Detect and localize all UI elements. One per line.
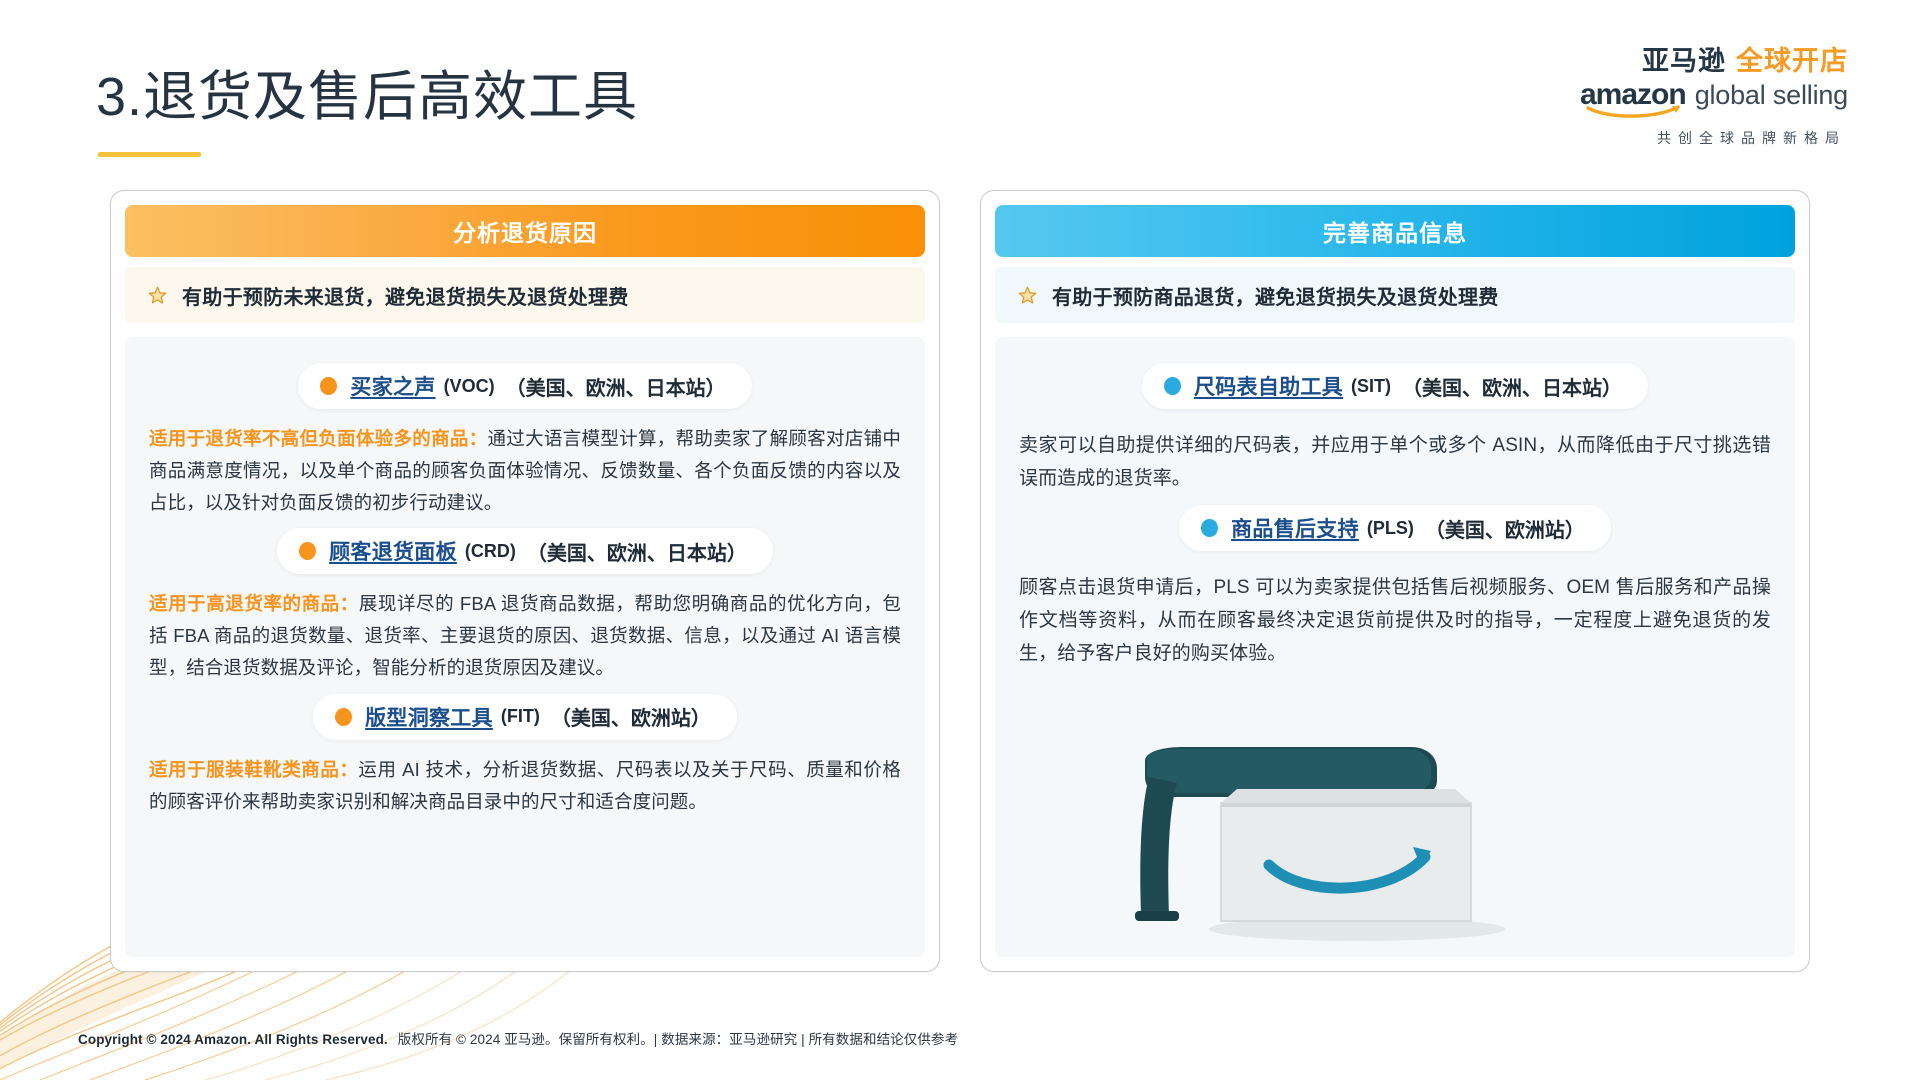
amazon-global-selling-logo: 亚马逊 全球开店 amazon global selling 共创全球品牌新格局 — [1528, 48, 1848, 148]
page-title: 3.退货及售后高效工具 — [96, 52, 638, 131]
tool-desc-pls: 顾客点击退货申请后，PLS 可以为卖家提供包括售后视频服务、OEM 售后服务和产… — [1019, 571, 1771, 670]
tool-regions-voc: （美国、欧洲、日本站） — [506, 372, 726, 401]
star-icon — [147, 285, 168, 306]
card-analyze-return-reasons: 分析退货原因 有助于预防未来退货，避免退货损失及退货处理费 买家之声 (VOC)… — [110, 190, 940, 972]
tool-pill-fit[interactable]: 版型洞察工具 (FIT) （美国、欧洲站） — [313, 694, 737, 740]
card-body-analyze: 买家之声 (VOC) （美国、欧洲、日本站） 适用于退货率不高但负面体验多的商品… — [125, 337, 925, 957]
card-body-improve: 尺码表自助工具 (SIT) （美国、欧洲、日本站） 卖家可以自助提供详细的尺码表… — [995, 337, 1795, 957]
logo-amazon-wordmark: amazon — [1580, 80, 1686, 110]
card-header-improve: 完善商品信息 — [995, 205, 1795, 257]
tool-abbr-voc: (VOC) — [444, 376, 495, 397]
footer-copyright-cn: 版权所有 © 2024 亚马逊。保留所有权利。| 数据来源：亚马逊研究 | 所有… — [398, 1028, 958, 1048]
bullet-dot-icon — [320, 377, 337, 395]
card-subtitle-analyze: 有助于预防未来退货，避免退货损失及退货处理费 — [125, 267, 925, 323]
amazon-smile-icon — [1586, 105, 1682, 119]
tool-pill-voc[interactable]: 买家之声 (VOC) （美国、欧洲、日本站） — [298, 363, 751, 409]
tool-link-pls[interactable]: 商品售后支持 — [1231, 513, 1359, 543]
tool-pill-pls[interactable]: 商品售后支持 (PLS) （美国、欧洲站） — [1179, 505, 1611, 551]
footer-copyright-en: Copyright © 2024 Amazon. All Rights Rese… — [78, 1032, 388, 1047]
logo-global-selling-cn: 全球开店 — [1736, 48, 1848, 75]
slide-canvas: 3.退货及售后高效工具 亚马逊 全球开店 amazon global selli… — [0, 0, 1920, 1080]
tool-abbr-sit: (SIT) — [1351, 376, 1391, 397]
tool-abbr-pls: (PLS) — [1367, 518, 1414, 539]
tool-regions-pls: （美国、欧洲站） — [1425, 514, 1585, 543]
logo-english-row: amazon global selling — [1528, 80, 1848, 110]
tool-lead-crd: 适用于高退货率的商品： — [149, 593, 359, 614]
logo-tagline: 共创全球品牌新格局 — [1528, 128, 1848, 148]
footer: Copyright © 2024 Amazon. All Rights Rese… — [78, 1028, 958, 1048]
tool-abbr-crd: (CRD) — [465, 541, 516, 562]
tool-regions-crd: （美国、欧洲、日本站） — [527, 537, 747, 566]
tool-desc-sit: 卖家可以自助提供详细的尺码表，并应用于单个或多个 ASIN，从而降低由于尺寸挑选… — [1019, 429, 1771, 495]
tool-desc-voc: 适用于退货率不高但负面体验多的商品：通过大语言模型计算，帮助卖家了解顾客对店铺中… — [149, 423, 901, 518]
tool-desc-crd: 适用于高退货率的商品：展现详尽的 FBA 退货商品数据，帮助您明确商品的优化方向… — [149, 588, 901, 683]
bullet-dot-icon — [1201, 519, 1218, 537]
tool-lead-fit: 适用于服装鞋靴类商品： — [149, 759, 358, 780]
tool-pill-sit[interactable]: 尺码表自助工具 (SIT) （美国、欧洲、日本站） — [1142, 363, 1648, 409]
card-header-analyze: 分析退货原因 — [125, 205, 925, 257]
bullet-dot-icon — [1164, 377, 1181, 395]
bullet-dot-icon — [299, 542, 316, 560]
amazon-parcel-illustration — [1125, 747, 1545, 947]
tool-pill-crd[interactable]: 顾客退货面板 (CRD) （美国、欧洲、日本站） — [277, 528, 773, 574]
tool-regions-fit: （美国、欧洲站） — [551, 702, 711, 731]
card-improve-product-info: 完善商品信息 有助于预防商品退货，避免退货损失及退货处理费 尺码表自助工具 (S… — [980, 190, 1810, 972]
bullet-dot-icon — [335, 708, 352, 726]
tool-regions-sit: （美国、欧洲、日本站） — [1402, 372, 1622, 401]
card-subtitle-text: 有助于预防商品退货，避免退货损失及退货处理费 — [1052, 281, 1499, 310]
tool-link-fit[interactable]: 版型洞察工具 — [365, 702, 493, 732]
title-underline-rule — [98, 152, 201, 157]
logo-global-selling-text: global selling — [1695, 82, 1848, 109]
tool-abbr-fit: (FIT) — [501, 706, 540, 727]
tool-link-sit[interactable]: 尺码表自助工具 — [1194, 371, 1343, 401]
star-icon — [1017, 285, 1038, 306]
tool-link-crd[interactable]: 顾客退货面板 — [329, 536, 457, 566]
tool-link-voc[interactable]: 买家之声 — [350, 371, 435, 401]
logo-amazon-cn: 亚马逊 — [1642, 48, 1726, 75]
tool-lead-voc: 适用于退货率不高但负面体验多的商品： — [149, 428, 488, 449]
logo-chinese-row: 亚马逊 全球开店 — [1528, 48, 1848, 75]
card-subtitle-improve: 有助于预防商品退货，避免退货损失及退货处理费 — [995, 267, 1795, 323]
tool-desc-fit: 适用于服装鞋靴类商品：运用 AI 技术，分析退货数据、尺码表以及关于尺码、质量和… — [149, 754, 901, 818]
card-subtitle-text: 有助于预防未来退货，避免退货损失及退货处理费 — [182, 281, 629, 310]
